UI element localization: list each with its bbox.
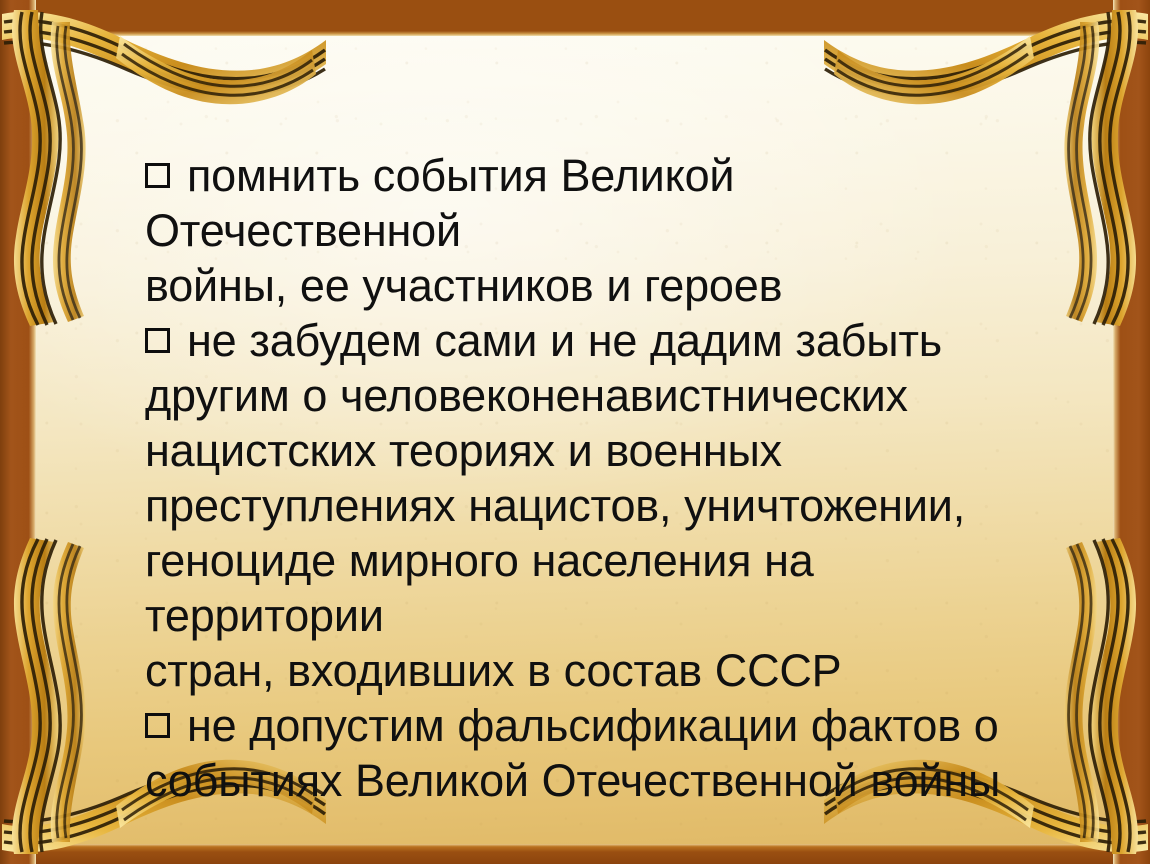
- bullet-line-text: помнить события Великой Отечественной: [145, 150, 747, 256]
- bullet-wrap-line: геноциде мирного населения на территории: [145, 533, 1025, 643]
- frame-border-right: [1113, 0, 1150, 864]
- checkbox-bullet-icon: [145, 713, 175, 743]
- slide-canvas: помнить события Великой Отечественнойвой…: [0, 0, 1150, 864]
- bullet-wrap-line: войны, ее участников и героев: [145, 258, 1025, 313]
- frame-border-bottom: [0, 844, 1150, 864]
- bullet-wrap-line: событиях Великой Отечественной войны: [145, 753, 1025, 808]
- bullet-line-text: другим о человеконенавистнических: [145, 370, 908, 421]
- bullet-item: не забудем сами и не дадим забытьдругим …: [145, 313, 1025, 698]
- checkbox-bullet-icon: [145, 328, 175, 358]
- bullet-line-text: событиях Великой Отечественной войны: [145, 755, 1000, 806]
- bullet-first-line: помнить события Великой Отечественной: [145, 148, 1025, 258]
- bullet-line-text: преступлениях нацистов, уничтожении,: [145, 480, 965, 531]
- bullet-first-line: не допустим фальсификации фактов о: [145, 698, 1025, 753]
- bullet-first-line: не забудем сами и не дадим забыть: [145, 313, 1025, 368]
- bullet-wrap-line: другим о человеконенавистнических: [145, 368, 1025, 423]
- frame-border-left: [0, 0, 36, 864]
- bullet-item: не допустим фальсификации фактов особыти…: [145, 698, 1025, 808]
- bullet-line-text: не забудем сами и не дадим забыть: [187, 315, 942, 366]
- checkbox-bullet-icon: [145, 163, 175, 193]
- bullet-line-text: стран, входивших в состав СССР: [145, 645, 842, 696]
- bullet-line-text: геноциде мирного населения на территории: [145, 535, 826, 641]
- bullet-line-text: нацистских теориях и военных: [145, 425, 782, 476]
- frame-border-top: [0, 0, 1150, 36]
- slide-body-text: помнить события Великой Отечественнойвой…: [145, 148, 1025, 808]
- bullet-wrap-line: преступлениях нацистов, уничтожении,: [145, 478, 1025, 533]
- bullet-line-text: не допустим фальсификации фактов о: [187, 700, 999, 751]
- bullet-wrap-line: стран, входивших в состав СССР: [145, 643, 1025, 698]
- bullet-item: помнить события Великой Отечественнойвой…: [145, 148, 1025, 313]
- bullet-line-text: войны, ее участников и героев: [145, 260, 782, 311]
- bullet-wrap-line: нацистских теориях и военных: [145, 423, 1025, 478]
